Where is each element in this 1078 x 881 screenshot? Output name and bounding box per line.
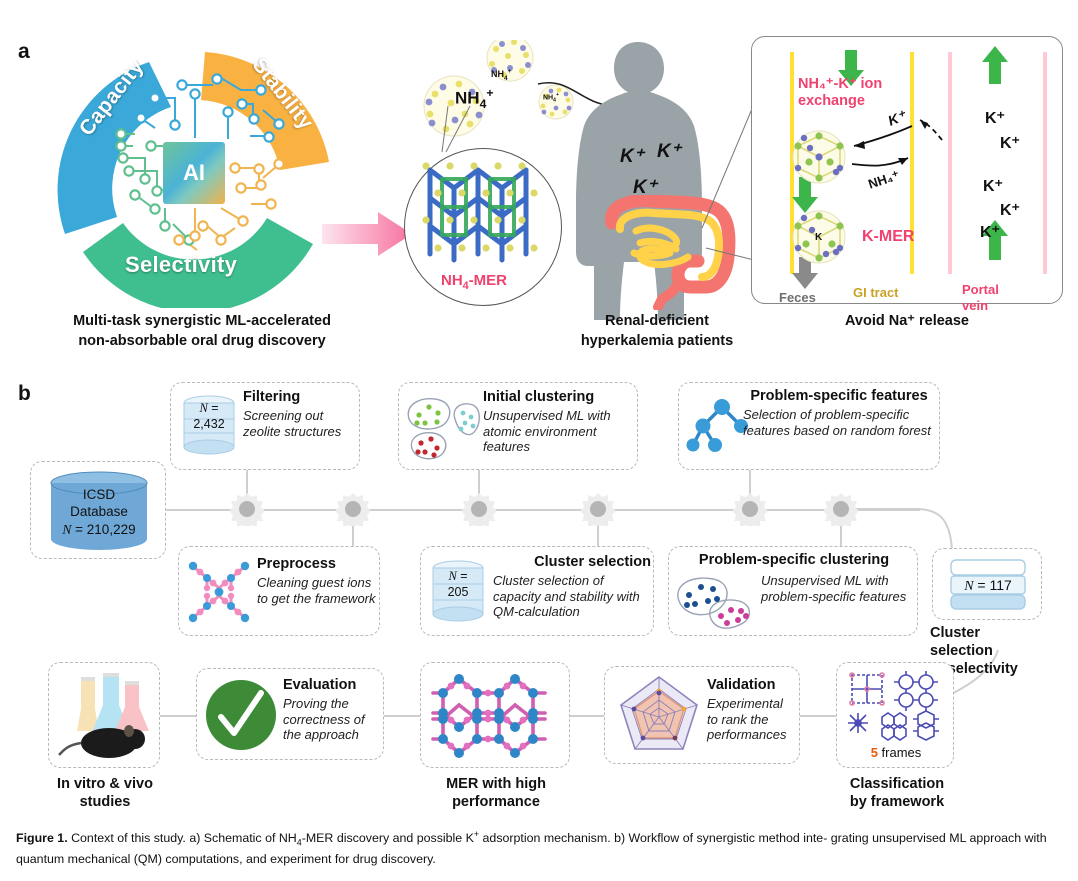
selectivity-count-label: N = 117 [933,577,1043,595]
cluster-selection-value: 205 [429,585,487,601]
cluster-selection-n-symbol: N [448,569,456,583]
db-n-value: = 210,229 [71,522,135,537]
feces-label: Feces [779,290,816,305]
nh4-mer-main: NH [441,272,463,289]
problem-clustering-desc: Unsupervised ML with problem-specific fe… [761,573,911,605]
vein-k-ion-2: K⁺ [1000,133,1020,153]
in-vitro-line1: In vitro & vivo [32,775,178,793]
filtering-n-symbol: N [199,401,207,415]
gi-tract-label: GI tract [853,285,899,300]
molecule-icon-preprocess [183,554,255,630]
wheel-caption-line1: Multi-task synergistic ML-accelerated [28,312,376,332]
node-validation[interactable]: Validation Experimental to rank the perf… [604,666,800,764]
panel-a-wheel-caption: Multi-task synergistic ML-accelerated no… [28,312,376,351]
selectivity-label-line2: selection [930,642,1050,660]
preprocess-title: Preprocess [257,556,377,573]
cluster-selection-count: N = 205 [429,569,487,600]
panel-a-mechanism-caption: Avoid Na⁺ release [800,312,1014,332]
filtering-desc: Screening out zeolite structures [243,408,355,440]
node-problem-specific-clustering[interactable]: Problem-specific clustering Unsupervised… [668,546,918,636]
filtering-count: N = 2,432 [179,401,239,432]
in-vitro-line2: studies [32,793,178,811]
svg-text:K: K [815,232,823,243]
workflow-spine [160,509,920,511]
node-filtering[interactable]: N = 2,432 Filtering Screening out zeolit… [170,382,360,470]
initial-clustering-desc: Unsupervised ML with atomic environment … [483,408,633,456]
frames-count-word: frames [878,745,921,760]
zoom-leader-line [440,104,480,156]
selectivity-n-value: = 117 [974,577,1012,593]
frames-count-label: 5 frames [837,745,955,760]
cog-node-1 [230,492,264,526]
figure-1: a [0,0,1078,881]
nh4-mer-label: NH4-MER [441,272,507,292]
problem-features-title: Problem-specific features [743,388,935,405]
preprocess-desc: Cleaning guest ions to get the framework [257,575,377,607]
cluster-selection-title: Cluster selection [493,554,651,571]
validation-desc: Experimental to rank the performances [707,696,795,744]
cluster-selection-n-row: N = [429,569,487,585]
nh4-mer-rest: -MER [469,272,507,289]
cog-node-6 [824,492,858,526]
body-to-mechanism-leaders [700,100,756,270]
evaluation-title: Evaluation [283,677,379,694]
pink-arrow-icon [320,208,416,260]
radar-chart-icon [611,671,707,761]
filtering-value: 2,432 [179,417,239,433]
node-evaluation[interactable]: Evaluation Proving the correctness of th… [196,668,384,760]
classification-label: Classification by framework [822,775,972,811]
connector-evaluation-mer [382,715,420,717]
db-line2: Database [31,503,167,520]
node-cluster-selection[interactable]: N = 205 Cluster selection Cluster select… [420,546,654,636]
mouse-shape [59,725,145,758]
portal-vein-line2: vein [962,298,999,314]
portal-vein-line1: Portal [962,282,999,298]
panel-a-body-caption: Renal-deficient hyperkalemia patients [562,312,752,351]
cog-node-3 [462,492,496,526]
body-caption-line2: hyperkalemia patients [562,332,752,352]
node-initial-clustering[interactable]: Initial clustering Unsupervised ML with … [398,382,638,470]
zeolite-cluster-kmer-icon: K [788,208,850,266]
ai-wheel-diagram: Capacity Stability Selectivity AI [45,38,355,308]
ai-chip: AI [163,142,225,204]
nh4-mer-framework-icon [420,160,548,272]
frames-count-number: 5 [871,745,878,760]
node-selectivity-count[interactable]: N = 117 [932,548,1042,620]
k-ion-body-1: K⁺ [620,145,644,168]
vein-k-ion-4: K⁺ [1000,200,1020,220]
problem-features-desc: Selection of problem-specific features b… [743,407,935,439]
classification-line2: by framework [822,793,972,811]
panel-a-letter: a [18,40,30,64]
mer-line1: MER with high [408,775,584,793]
cog-node-2 [336,492,370,526]
portal-vein-label: Portal vein [962,282,999,313]
mer-line2: performance [408,793,584,811]
connector-invitro-evaluation [160,715,196,717]
filtering-title: Filtering [243,389,355,406]
mer-framework-icon [429,669,563,763]
ion-exchange-line1: NH₄⁺-K⁺ ion [798,76,882,93]
node-icsd-database[interactable]: ICSD Database N = 210,229 [30,461,166,559]
body-caption-line1: Renal-deficient [562,312,752,332]
classification-line1: Classification [822,775,972,793]
filtering-eq: = [208,401,219,415]
database-label: ICSD Database N = 210,229 [31,486,167,538]
vein-k-ion-5: K⁺ [980,222,1000,242]
cluster-scatter-icon-initial [403,393,483,461]
cluster-scatter-icon-problem [673,571,759,633]
evaluation-desc: Proving the correctness of the approach [283,696,379,744]
cluster-selection-desc: Cluster selection of capacity and stabil… [493,573,651,621]
connector-validation-classification [800,715,836,717]
node-preprocess[interactable]: Preprocess Cleaning guest ions to get th… [178,546,380,636]
caption-label: Figure 1. [16,831,68,845]
cog-node-4 [581,492,615,526]
node-classification[interactable]: 5 frames [836,662,954,768]
ai-chip-label: AI [183,160,205,186]
db-line1: ICSD [31,486,167,503]
arc-label-selectivity: Selectivity [125,252,237,278]
in-vitro-label: In vitro & vivo studies [32,775,178,811]
wheel-caption-line2: non-absorbable oral drug discovery [28,332,376,352]
caption-part1: Context of this study. a) Schematic of N… [71,831,297,845]
db-line3: N = 210,229 [31,521,167,538]
connector-mer-validation [570,715,604,717]
vein-k-ion-1: K⁺ [985,108,1005,128]
vein-wall-right [1043,52,1047,274]
caption-part3: adsorption mechanism. b) Workflow of syn… [479,831,827,845]
vein-up-arrow-icon-top [980,44,1010,86]
mouse-flask-icon [57,669,157,761]
panel-b-letter: b [18,382,31,406]
initial-clustering-title: Initial clustering [483,389,633,406]
problem-clustering-title: Problem-specific clustering [669,552,919,569]
node-problem-specific-features[interactable]: Problem-specific features Selection of p… [678,382,940,470]
nh4-particle-label-medium: NH4+ [491,68,511,82]
caption-part2: -MER discovery and possible K [302,831,474,845]
k-mer-label: K-MER [862,228,914,246]
frameworks-grid-icon [844,669,948,745]
mer-label: MER with high performance [408,775,584,811]
figure-caption: Figure 1. Context of this study. a) Sche… [16,828,1062,869]
node-in-vitro-vivo[interactable] [48,662,160,768]
vein-k-ion-3: K⁺ [983,176,1003,196]
selectivity-label-line1: Cluster [930,624,1050,642]
validation-title: Validation [707,677,795,694]
k-ion-body-2: K⁺ [657,140,681,163]
green-check-icon [203,677,279,753]
selectivity-n-symbol: N [964,579,973,594]
node-mer-framework[interactable] [420,662,570,768]
ion-exchange-label: NH₄⁺-K⁺ ion exchange [798,76,882,111]
filtering-n-row: N = [179,401,239,417]
cluster-selection-eq: = [457,569,468,583]
cog-node-5 [733,492,767,526]
